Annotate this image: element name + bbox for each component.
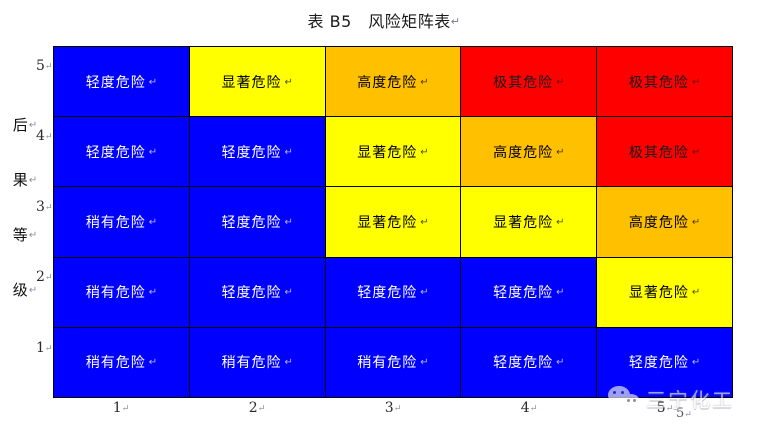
matrix-cell-label: 显著危险↵ <box>222 72 293 92</box>
matrix-cell-label: 轻度危险↵ <box>629 352 700 372</box>
matrix-cell: 稍有危险↵ <box>54 187 189 256</box>
matrix-cell-label: 轻度危险↵ <box>357 282 428 302</box>
pilcrow-mark: ↵ <box>420 77 428 88</box>
x-axis-tick: 3↵ <box>363 400 423 416</box>
matrix-cell-label: 稍有危险↵ <box>86 282 157 302</box>
matrix-cell: 轻度危险↵ <box>326 258 461 327</box>
x-axis-tick-label: 4 <box>521 400 530 416</box>
y-axis-tick: 5↵ <box>36 58 52 74</box>
matrix-cell-label: 稍有危险↵ <box>86 212 157 232</box>
y-axis-tick-label: 1 <box>36 340 45 356</box>
pilcrow-mark: ↵ <box>149 147 157 158</box>
matrix-cell-label: 轻度危险↵ <box>493 352 564 372</box>
pilcrow-mark: ↵ <box>692 357 700 368</box>
matrix-cell: 稍有危险↵ <box>54 258 189 327</box>
pilcrow-mark: ↵ <box>149 287 157 298</box>
pilcrow-mark: ↵ <box>556 287 564 298</box>
matrix-cell: 高度危险↵ <box>461 117 596 186</box>
matrix-cell-label: 稍有危险↵ <box>357 352 428 372</box>
matrix-cell-label: 极其危险↵ <box>493 72 564 92</box>
matrix-cell-label: 高度危险↵ <box>629 212 700 232</box>
x-axis-tick-label: 2 <box>249 400 258 416</box>
y-axis-tick: 2↵ <box>36 269 52 285</box>
pilcrow-mark: ↵ <box>122 404 130 414</box>
matrix-cell: 稍有危险↵ <box>190 328 325 397</box>
matrix-cell: 稍有危险↵ <box>326 328 461 397</box>
pilcrow-mark: ↵ <box>556 147 564 158</box>
matrix-cell: 轻度危险↵ <box>461 328 596 397</box>
y-axis-tick: 3↵ <box>36 199 52 215</box>
matrix-cell: 极其危险↵ <box>597 117 732 186</box>
page-title: 表 B5 风险矩阵表↵ <box>0 8 768 32</box>
pilcrow-mark: ↵ <box>45 132 53 142</box>
x-axis-ticks: 1↵2↵3↵4↵5↵ <box>53 400 733 428</box>
matrix-cell: 极其危险↵ <box>597 47 732 116</box>
y-axis-ticks: 5↵4↵3↵2↵1↵ <box>36 46 52 398</box>
pilcrow-mark: ↵ <box>45 203 53 213</box>
pilcrow-mark: ↵ <box>258 404 266 414</box>
matrix-cell: 稍有危险↵ <box>54 328 189 397</box>
matrix-cell-label: 轻度危险↵ <box>86 72 157 92</box>
page-number-marker: 5↵ <box>676 406 692 421</box>
pilcrow-mark: ↵ <box>149 77 157 88</box>
x-axis-tick: 2↵ <box>227 400 287 416</box>
matrix-cell: 显著危险↵ <box>190 47 325 116</box>
pilcrow-mark: ↵ <box>556 217 564 228</box>
matrix-cell: 显著危险↵ <box>326 187 461 256</box>
x-axis-tick-label: 3 <box>385 400 394 416</box>
y-axis-tick-label: 3 <box>36 199 45 215</box>
pilcrow-mark: ↵ <box>692 217 700 228</box>
pilcrow-mark: ↵ <box>394 404 402 414</box>
matrix-cell-label: 显著危险↵ <box>629 282 700 302</box>
matrix-cell: 显著危险↵ <box>326 117 461 186</box>
pilcrow-mark: ↵ <box>149 357 157 368</box>
matrix-cell-label: 稍有危险↵ <box>86 352 157 372</box>
pilcrow-mark: ↵ <box>692 147 700 158</box>
pilcrow-mark: ↵ <box>149 217 157 228</box>
matrix-cell-label: 轻度危险↵ <box>222 212 293 232</box>
pilcrow-mark: ↵ <box>285 357 293 368</box>
pilcrow-mark: ↵ <box>420 147 428 158</box>
pilcrow-mark: ↵ <box>45 344 53 354</box>
pilcrow-mark: ↵ <box>451 15 461 28</box>
pilcrow-mark: ↵ <box>420 217 428 228</box>
matrix-cell-label: 显著危险↵ <box>357 142 428 162</box>
matrix-cell: 高度危险↵ <box>326 47 461 116</box>
pilcrow-mark: ↵ <box>285 287 293 298</box>
risk-matrix-page: 表 B5 风险矩阵表↵ 后↵果↵等↵级↵ 5↵4↵3↵2↵1↵ 轻度危险↵显著危… <box>0 0 768 431</box>
pilcrow-mark: ↵ <box>285 147 293 158</box>
x-axis-tick: 1↵ <box>91 400 151 416</box>
pilcrow-mark: ↵ <box>684 410 692 420</box>
matrix-cell-label: 极其危险↵ <box>629 142 700 162</box>
matrix-cell: 高度危险↵ <box>597 187 732 256</box>
y-axis-tick: 4↵ <box>36 128 52 144</box>
x-axis-tick-label: 1 <box>113 400 122 416</box>
matrix-cell: 轻度危险↵ <box>190 117 325 186</box>
pilcrow-mark: ↵ <box>692 77 700 88</box>
matrix-cell-label: 极其危险↵ <box>629 72 700 92</box>
matrix-cell-label: 显著危险↵ <box>493 212 564 232</box>
matrix-cell: 轻度危险↵ <box>190 258 325 327</box>
y-axis-tick-label: 2 <box>36 269 45 285</box>
pilcrow-mark: ↵ <box>45 273 53 283</box>
matrix-cell: 轻度危险↵ <box>461 258 596 327</box>
pilcrow-mark: ↵ <box>420 287 428 298</box>
matrix-cell: 轻度危险↵ <box>54 47 189 116</box>
matrix-cell: 轻度危险↵ <box>54 117 189 186</box>
matrix-cell: 显著危险↵ <box>597 258 732 327</box>
pilcrow-mark: ↵ <box>285 77 293 88</box>
pilcrow-mark: ↵ <box>692 287 700 298</box>
matrix-cell: 极其危险↵ <box>461 47 596 116</box>
matrix-cell-label: 显著危险↵ <box>357 212 428 232</box>
pilcrow-mark: ↵ <box>530 404 538 414</box>
page-title-text: 表 B5 风险矩阵表 <box>308 12 451 31</box>
pilcrow-mark: ↵ <box>556 357 564 368</box>
matrix-cell: 轻度危险↵ <box>597 328 732 397</box>
pilcrow-mark: ↵ <box>556 77 564 88</box>
x-axis-tick-label: 5 <box>657 400 666 416</box>
matrix-cell-label: 轻度危险↵ <box>222 282 293 302</box>
x-axis-tick: 4↵ <box>499 400 559 416</box>
pilcrow-mark: ↵ <box>45 62 53 72</box>
y-axis-tick-label: 5 <box>36 58 45 74</box>
matrix-cell-label: 轻度危险↵ <box>86 142 157 162</box>
matrix-cell-label: 稍有危险↵ <box>222 352 293 372</box>
matrix-cell-label: 高度危险↵ <box>493 142 564 162</box>
matrix-cell: 显著危险↵ <box>461 187 596 256</box>
matrix-cell-label: 高度危险↵ <box>357 72 428 92</box>
pilcrow-mark: ↵ <box>420 357 428 368</box>
matrix-cell-label: 轻度危险↵ <box>493 282 564 302</box>
matrix-cell-label: 轻度危险↵ <box>222 142 293 162</box>
y-axis-tick: 1↵ <box>36 340 52 356</box>
y-axis-tick-label: 4 <box>36 128 45 144</box>
matrix-cell: 轻度危险↵ <box>190 187 325 256</box>
risk-matrix-grid: 轻度危险↵显著危险↵高度危险↵极其危险↵极其危险↵轻度危险↵轻度危险↵显著危险↵… <box>53 46 733 398</box>
pilcrow-mark: ↵ <box>666 404 674 414</box>
pilcrow-mark: ↵ <box>285 217 293 228</box>
